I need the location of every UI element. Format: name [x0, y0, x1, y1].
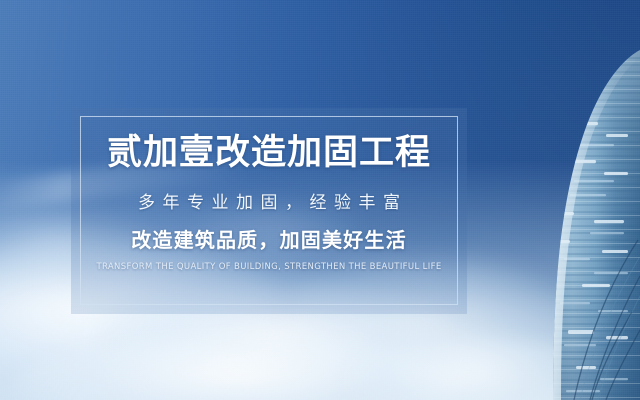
skyscraper-icon	[520, 44, 640, 400]
subtitle-text: 多年专业加固，经验丰富	[131, 193, 408, 213]
hero-text-panel: 贰加壹改造加固工程 多年专业加固，经验丰富 改造建筑品质，加固美好生活 TRAN…	[71, 108, 467, 314]
english-tagline: TRANSFORM THE QUALITY OF BUILDING, STREN…	[96, 262, 441, 272]
page-title: 贰加壹改造加固工程	[107, 133, 431, 174]
skyscraper-image	[520, 44, 640, 400]
banner-stage: 贰加壹改造加固工程 多年专业加固，经验丰富 改造建筑品质，加固美好生活 TRAN…	[0, 0, 640, 400]
panel-content: 贰加壹改造加固工程 多年专业加固，经验丰富 改造建筑品质，加固美好生活 TRAN…	[71, 108, 467, 314]
slogan-text: 改造建筑品质，加固美好生活	[131, 228, 407, 252]
